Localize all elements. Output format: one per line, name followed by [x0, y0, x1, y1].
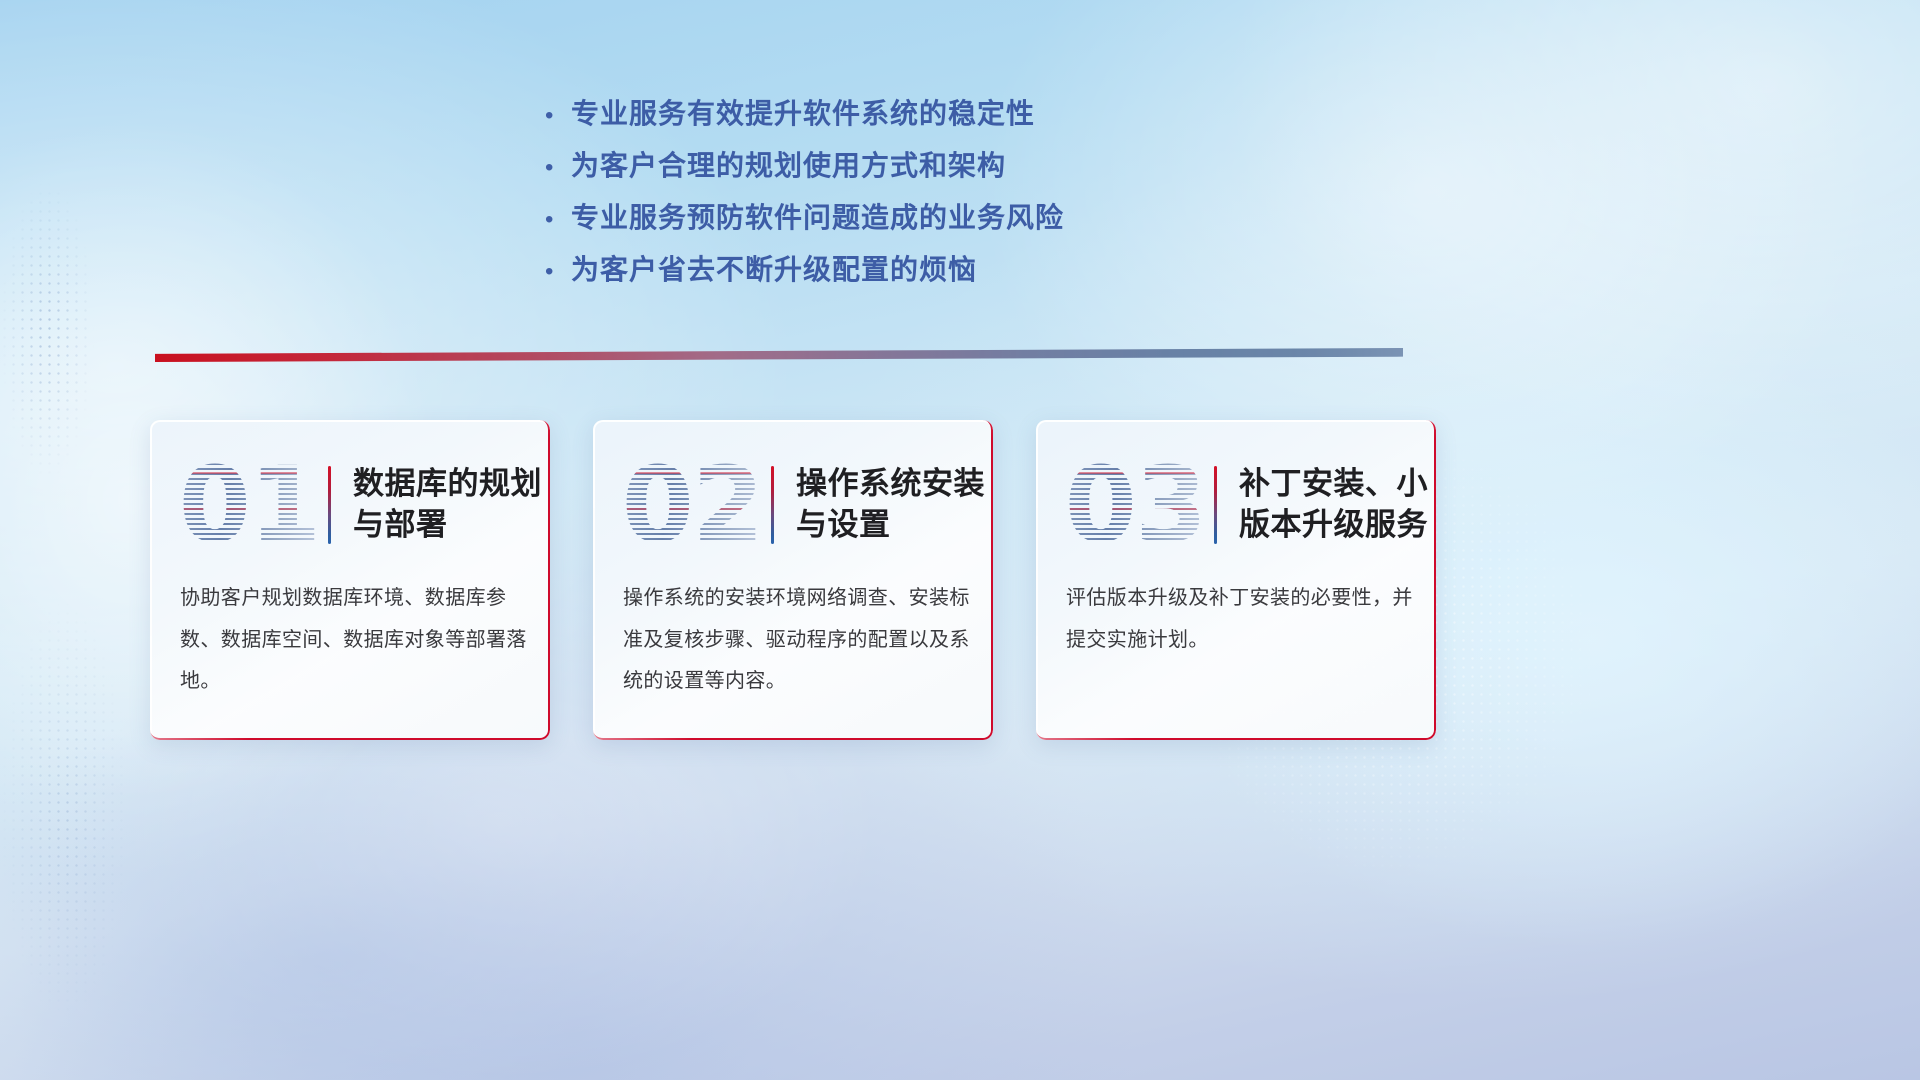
card-number-text: 01 — [179, 453, 320, 557]
service-card-01[interactable]: 01 01 数据库的规划 与部署 协助客户规划数据库环境、数据库参数、数据库空间… — [150, 420, 550, 740]
card-title: 操作系统安装 与设置 — [796, 464, 986, 546]
card-description: 协助客户规划数据库环境、数据库参数、数据库空间、数据库对象等部署落地。 — [180, 578, 528, 703]
card-header: 03 03 补丁安装、小 版本升级服务 — [1036, 446, 1436, 564]
card-number-badge: 02 02 — [617, 446, 767, 564]
section-divider — [155, 348, 1403, 362]
card-title-line-2: 与部署 — [353, 505, 543, 546]
background-glow-bottom-left — [0, 700, 780, 1080]
dot-texture-left-upper — [0, 180, 95, 480]
bullet-dot-icon: • — [545, 260, 571, 284]
card-description: 操作系统的安装环境网络调查、安装标准及复核步骤、驱动程序的配置以及系统的设置等内… — [623, 578, 971, 703]
card-divider-rule — [1214, 466, 1217, 544]
bullet-dot-icon: • — [545, 104, 571, 128]
card-header: 02 02 操作系统安装 与设置 — [593, 446, 993, 564]
service-card-group: 01 01 数据库的规划 与部署 协助客户规划数据库环境、数据库参数、数据库空间… — [150, 420, 1770, 745]
card-title-line-1: 补丁安装、小 — [1239, 464, 1429, 505]
bullet-text: 为客户省去不断升级配置的烦恼 — [571, 248, 977, 288]
benefits-bullet-list: • 专业服务有效提升软件系统的稳定性 • 为客户合理的规划使用方式和架构 • 专… — [545, 92, 1445, 300]
card-divider-rule — [771, 466, 774, 544]
bullet-text: 专业服务预防软件问题造成的业务风险 — [571, 196, 1064, 236]
dot-texture-left-lower — [0, 600, 130, 1020]
bullet-dot-icon: • — [545, 156, 571, 180]
bullet-dot-icon: • — [545, 208, 571, 232]
divider-highlight — [155, 348, 1403, 362]
card-number-badge: 03 03 — [1060, 446, 1210, 564]
card-number-badge: 01 01 — [174, 446, 324, 564]
card-header: 01 01 数据库的规划 与部署 — [150, 446, 550, 564]
list-item: • 专业服务预防软件问题造成的业务风险 — [545, 196, 1445, 248]
list-item: • 专业服务有效提升软件系统的稳定性 — [545, 92, 1445, 144]
card-title: 数据库的规划 与部署 — [353, 464, 543, 546]
bullet-text: 为客户合理的规划使用方式和架构 — [571, 144, 1006, 184]
bullet-text: 专业服务有效提升软件系统的稳定性 — [571, 92, 1035, 132]
card-description: 评估版本升级及补丁安装的必要性，并提交实施计划。 — [1066, 578, 1414, 661]
card-title-line-1: 操作系统安装 — [796, 464, 986, 505]
card-title-line-2: 版本升级服务 — [1239, 505, 1429, 546]
card-number-text: 02 — [622, 453, 763, 557]
card-title-line-2: 与设置 — [796, 505, 986, 546]
card-title-line-1: 数据库的规划 — [353, 464, 543, 505]
slide-canvas: • 专业服务有效提升软件系统的稳定性 • 为客户合理的规划使用方式和架构 • 专… — [0, 0, 1920, 1080]
card-title: 补丁安装、小 版本升级服务 — [1239, 464, 1429, 546]
list-item: • 为客户合理的规划使用方式和架构 — [545, 144, 1445, 196]
service-card-03[interactable]: 03 03 补丁安装、小 版本升级服务 评估版本升级及补丁安装的必要性，并提交实… — [1036, 420, 1436, 740]
card-number-text: 03 — [1065, 453, 1206, 557]
card-divider-rule — [328, 466, 331, 544]
list-item: • 为客户省去不断升级配置的烦恼 — [545, 248, 1445, 300]
service-card-02[interactable]: 02 02 操作系统安装 与设置 操作系统的安装环境网络调查、安装标准及复核步骤… — [593, 420, 993, 740]
